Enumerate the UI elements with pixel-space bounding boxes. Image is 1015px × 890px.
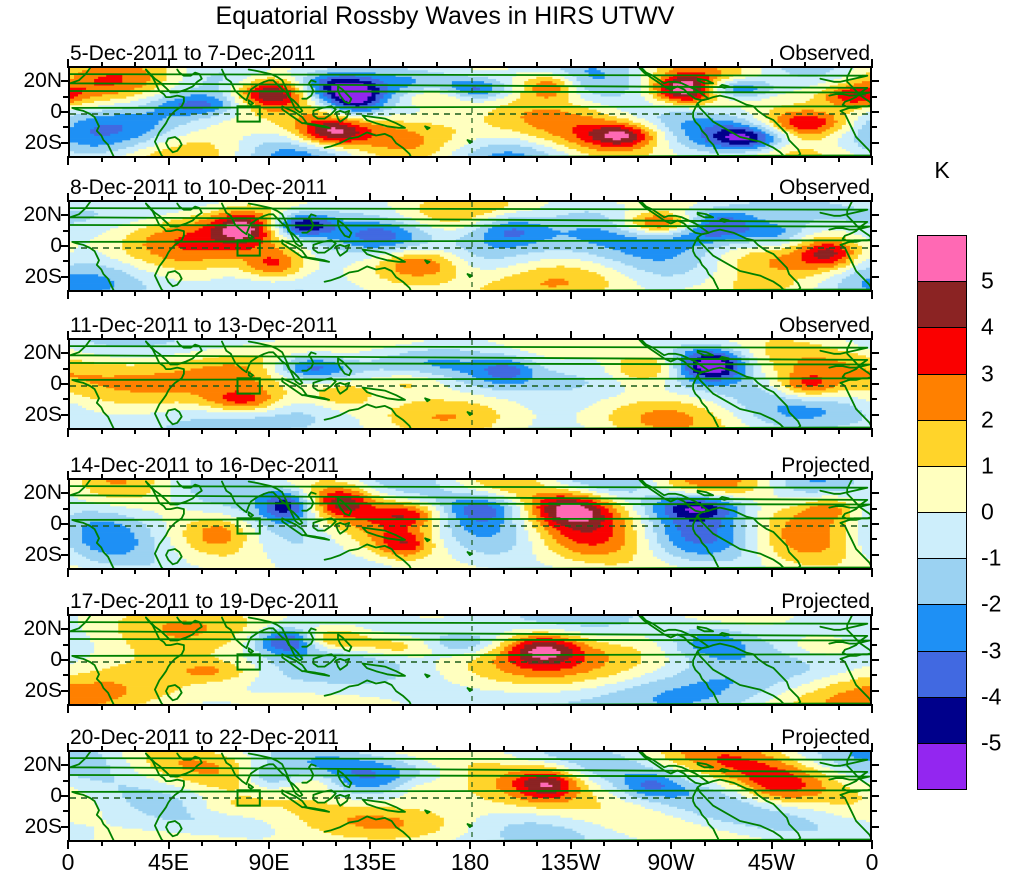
y-axis-tick [871, 383, 879, 385]
y-axis-tick [871, 554, 879, 556]
colorbar-tick-4: 4 [981, 314, 994, 341]
y-axis-tick [871, 795, 879, 797]
x-axis-minor-tick [838, 290, 840, 296]
x-axis-minor-tick [838, 840, 840, 846]
y-axis-label-20N: 20N [23, 617, 62, 641]
x-axis-tick [168, 428, 170, 437]
x-axis-minor-tick [804, 334, 806, 340]
x-axis-minor-tick [335, 474, 337, 480]
x-axis-tick [570, 568, 572, 577]
x-axis-minor-tick [101, 156, 103, 162]
x-axis-minor-tick [101, 196, 103, 202]
x-axis-minor-tick [101, 568, 103, 574]
x-axis-minor-tick [536, 840, 538, 846]
x-axis-minor-tick [704, 156, 706, 162]
x-axis-minor-tick [737, 840, 739, 846]
x-axis-minor-tick [302, 334, 304, 340]
y-axis-label-20S: 20S [25, 815, 62, 839]
x-axis-minor-tick [503, 474, 505, 480]
y-axis-minor-tick [871, 508, 877, 510]
x-axis-tick [771, 59, 773, 68]
x-axis-minor-tick [101, 290, 103, 296]
x-axis-minor-tick [637, 568, 639, 574]
x-axis-minor-tick [201, 568, 203, 574]
contour-fill [70, 340, 872, 430]
x-axis-tick [469, 607, 471, 616]
x-axis-tick [871, 607, 873, 616]
x-axis-tick [670, 840, 672, 849]
map-panel-5: 17-Dec-2011 to 19-Dec-2011Projected20N02… [68, 614, 872, 706]
colorbar-band-6 [917, 512, 967, 560]
x-axis-minor-tick [536, 196, 538, 202]
x-axis-minor-tick [536, 746, 538, 752]
colorbar-band-11 [917, 743, 967, 791]
x-axis-tick [168, 607, 170, 616]
x-axis-minor-tick [536, 704, 538, 710]
panel-plot-area [68, 614, 872, 706]
colorbar-tick--1: -1 [981, 545, 1001, 572]
y-axis-minor-tick [871, 230, 877, 232]
y-axis-tick [61, 659, 69, 661]
x-axis-label-180: 180 [451, 849, 489, 876]
y-axis-tick [61, 245, 69, 247]
x-axis-tick [871, 471, 873, 480]
panel-date-range: 8-Dec-2011 to 10-Dec-2011 [70, 177, 327, 199]
panel-plot-area [68, 338, 872, 430]
x-axis-minor-tick [737, 746, 739, 752]
x-axis-minor-tick [536, 474, 538, 480]
x-axis-minor-tick [436, 610, 438, 616]
x-axis-minor-tick [335, 428, 337, 434]
x-axis-tick [268, 568, 270, 577]
x-axis-tick [670, 156, 672, 165]
x-axis-minor-tick [201, 746, 203, 752]
x-axis-tick [369, 607, 371, 616]
y-axis-tick [61, 214, 69, 216]
x-axis-minor-tick [603, 746, 605, 752]
x-axis-tick [268, 331, 270, 340]
x-axis-minor-tick [838, 156, 840, 162]
y-axis-tick [61, 628, 69, 630]
x-axis-minor-tick [302, 156, 304, 162]
x-axis-minor-tick [201, 62, 203, 68]
y-axis-tick [871, 659, 879, 661]
x-axis-minor-tick [134, 290, 136, 296]
x-axis-tick [871, 743, 873, 752]
x-axis-minor-tick [235, 474, 237, 480]
contour-fill [70, 68, 872, 158]
y-axis-tick [871, 80, 879, 82]
x-axis-tick [670, 193, 672, 202]
x-axis-tick [469, 704, 471, 713]
x-axis-minor-tick [302, 746, 304, 752]
x-axis-minor-tick [838, 746, 840, 752]
x-axis-tick [469, 743, 471, 752]
colorbar-band-4 [917, 420, 967, 468]
x-axis-tick [871, 331, 873, 340]
x-axis-minor-tick [402, 156, 404, 162]
colorbar-tick-3: 3 [981, 360, 994, 387]
x-axis-minor-tick [134, 746, 136, 752]
x-axis-minor-tick [101, 610, 103, 616]
x-axis-tick [369, 471, 371, 480]
x-axis-minor-tick [436, 334, 438, 340]
x-axis-minor-tick [402, 610, 404, 616]
y-axis-label-20N: 20N [23, 341, 62, 365]
y-axis-tick [871, 628, 879, 630]
x-axis-minor-tick [737, 196, 739, 202]
panel-plot-area [68, 200, 872, 292]
panel-date-range: 5-Dec-2011 to 7-Dec-2011 [70, 43, 316, 65]
x-axis-minor-tick [335, 840, 337, 846]
x-axis-minor-tick [503, 196, 505, 202]
x-axis-minor-tick [838, 428, 840, 434]
x-axis-tick [771, 607, 773, 616]
x-axis-tick [168, 471, 170, 480]
x-axis-tick [871, 193, 873, 202]
x-axis-tick [369, 743, 371, 752]
x-axis-minor-tick [503, 610, 505, 616]
x-axis-minor-tick [536, 568, 538, 574]
y-axis-tick [871, 214, 879, 216]
x-axis-minor-tick [603, 334, 605, 340]
x-axis-minor-tick [335, 62, 337, 68]
x-axis-tick [268, 59, 270, 68]
map-panel-1: 5-Dec-2011 to 7-Dec-2011Observed20N020S [68, 66, 872, 158]
x-axis-minor-tick [804, 474, 806, 480]
x-axis-tick [670, 59, 672, 68]
y-axis-label-20S: 20S [25, 131, 62, 155]
x-axis-minor-tick [637, 196, 639, 202]
x-axis-tick [369, 840, 371, 849]
y-axis-tick [61, 352, 69, 354]
y-axis-label-20N: 20N [23, 753, 62, 777]
x-axis-tick [369, 290, 371, 299]
x-axis-tick [369, 156, 371, 165]
x-axis-tick [871, 156, 873, 165]
colorbar-band-5 [917, 466, 967, 514]
y-axis-label-20S: 20S [25, 543, 62, 567]
x-axis-tick [67, 331, 69, 340]
x-axis-tick [268, 743, 270, 752]
y-axis-tick [61, 523, 69, 525]
x-axis-minor-tick [838, 568, 840, 574]
x-axis-tick [168, 704, 170, 713]
x-axis-minor-tick [503, 62, 505, 68]
x-axis-minor-tick [436, 196, 438, 202]
x-axis-tick [771, 290, 773, 299]
y-axis-minor-tick [871, 368, 877, 370]
x-axis-tick [570, 607, 572, 616]
x-axis-tick [268, 428, 270, 437]
x-axis-minor-tick [637, 610, 639, 616]
y-axis-tick [61, 142, 69, 144]
x-axis-minor-tick [402, 746, 404, 752]
x-axis-minor-tick [603, 610, 605, 616]
x-axis-minor-tick [201, 840, 203, 846]
y-axis-tick [871, 111, 879, 113]
x-axis-minor-tick [101, 746, 103, 752]
x-axis-minor-tick [134, 474, 136, 480]
x-axis-minor-tick [704, 568, 706, 574]
x-axis-tick [67, 428, 69, 437]
x-axis-tick [67, 290, 69, 299]
x-axis-minor-tick [804, 156, 806, 162]
y-axis-tick [871, 142, 879, 144]
x-axis-minor-tick [704, 746, 706, 752]
panel-status-label: Projected [781, 727, 870, 749]
x-axis-tick [67, 193, 69, 202]
x-axis-minor-tick [436, 290, 438, 296]
x-axis-minor-tick [503, 156, 505, 162]
panel-plot-area [68, 750, 872, 842]
x-axis-tick [168, 193, 170, 202]
x-axis-minor-tick [737, 156, 739, 162]
x-axis-minor-tick [101, 704, 103, 710]
x-axis-minor-tick [503, 290, 505, 296]
x-axis-tick [871, 59, 873, 68]
figure-root: Equatorial Rossby Waves in HIRS UTWV 5-D… [0, 0, 1015, 890]
y-axis-label-20N: 20N [23, 481, 62, 505]
x-axis-label-90W: 90W [647, 849, 694, 876]
x-axis-minor-tick [201, 428, 203, 434]
x-axis-label-135W: 135W [540, 849, 600, 876]
x-axis-minor-tick [235, 62, 237, 68]
x-axis-minor-tick [838, 334, 840, 340]
x-axis-minor-tick [101, 334, 103, 340]
panel-plot-area [68, 478, 872, 570]
x-axis-minor-tick [637, 704, 639, 710]
contour-fill [70, 752, 872, 842]
map-panel-3: 11-Dec-2011 to 13-Dec-2011Observed20N020… [68, 338, 872, 430]
y-axis-label-20N: 20N [23, 203, 62, 227]
y-axis-tick [61, 492, 69, 494]
x-axis-minor-tick [235, 746, 237, 752]
x-axis-minor-tick [603, 840, 605, 846]
colorbar-tick--5: -5 [981, 729, 1001, 756]
colorbar-band-2 [917, 327, 967, 375]
y-axis-minor-tick [63, 810, 69, 812]
x-axis-minor-tick [737, 428, 739, 434]
x-axis-tick [469, 156, 471, 165]
x-axis-tick [369, 428, 371, 437]
y-axis-tick [871, 276, 879, 278]
x-axis-tick [469, 290, 471, 299]
x-axis-minor-tick [603, 568, 605, 574]
x-axis-minor-tick [804, 62, 806, 68]
x-axis-minor-tick [436, 156, 438, 162]
x-axis-tick [469, 840, 471, 849]
x-axis-label-0: 0 [62, 849, 75, 876]
x-axis-tick [67, 607, 69, 616]
x-axis-tick [369, 331, 371, 340]
x-axis-minor-tick [637, 746, 639, 752]
x-axis-minor-tick [838, 474, 840, 480]
y-axis-minor-tick [871, 126, 877, 128]
x-axis-tick [670, 428, 672, 437]
x-axis-tick [67, 704, 69, 713]
x-axis-minor-tick [603, 156, 605, 162]
x-axis-minor-tick [302, 196, 304, 202]
x-axis-minor-tick [335, 704, 337, 710]
y-axis-minor-tick [871, 644, 877, 646]
colorbar-tick--3: -3 [981, 637, 1001, 664]
x-axis-minor-tick [704, 610, 706, 616]
y-axis-minor-tick [63, 674, 69, 676]
x-axis-minor-tick [804, 428, 806, 434]
x-axis-minor-tick [134, 196, 136, 202]
contour-fill [70, 202, 872, 292]
y-axis-minor-tick [871, 538, 877, 540]
y-axis-minor-tick [63, 368, 69, 370]
x-axis-minor-tick [402, 568, 404, 574]
x-axis-tick [871, 704, 873, 713]
x-axis-minor-tick [335, 290, 337, 296]
x-axis-minor-tick [335, 568, 337, 574]
x-axis-minor-tick [235, 610, 237, 616]
x-axis-tick [469, 193, 471, 202]
map-panel-2: 8-Dec-2011 to 10-Dec-2011Observed20N020S [68, 200, 872, 292]
x-axis-minor-tick [302, 840, 304, 846]
x-axis-minor-tick [804, 196, 806, 202]
x-axis-minor-tick [335, 196, 337, 202]
x-axis-tick [670, 607, 672, 616]
y-axis-label-20N: 20N [23, 69, 62, 93]
colorbar-unit-label: K [934, 157, 949, 184]
panel-status-label: Projected [781, 591, 870, 613]
x-axis-minor-tick [804, 290, 806, 296]
x-axis-minor-tick [503, 704, 505, 710]
x-axis-minor-tick [804, 746, 806, 752]
y-axis-tick [61, 276, 69, 278]
x-axis-minor-tick [436, 746, 438, 752]
x-axis-tick [771, 704, 773, 713]
x-axis-minor-tick [436, 840, 438, 846]
x-axis-tick [369, 59, 371, 68]
x-axis-tick [369, 193, 371, 202]
x-axis-tick [268, 840, 270, 849]
x-axis-minor-tick [737, 334, 739, 340]
colorbar-band-3 [917, 374, 967, 422]
x-axis-minor-tick [335, 334, 337, 340]
x-axis-tick [67, 471, 69, 480]
x-axis-minor-tick [101, 428, 103, 434]
x-axis-minor-tick [838, 196, 840, 202]
x-axis-minor-tick [235, 196, 237, 202]
x-axis-minor-tick [134, 62, 136, 68]
x-axis-tick [570, 193, 572, 202]
figure-title: Equatorial Rossby Waves in HIRS UTWV [0, 2, 890, 31]
x-axis-minor-tick [235, 704, 237, 710]
y-axis-minor-tick [63, 398, 69, 400]
x-axis-minor-tick [302, 704, 304, 710]
x-axis-minor-tick [134, 704, 136, 710]
x-axis-minor-tick [737, 290, 739, 296]
colorbar-tick-5: 5 [981, 268, 994, 295]
x-axis-minor-tick [101, 840, 103, 846]
x-axis-minor-tick [436, 568, 438, 574]
x-axis-minor-tick [134, 568, 136, 574]
x-axis-tick [268, 156, 270, 165]
x-axis-minor-tick [134, 334, 136, 340]
x-axis-minor-tick [235, 156, 237, 162]
y-axis-minor-tick [871, 810, 877, 812]
x-axis-tick [771, 193, 773, 202]
x-axis-minor-tick [536, 610, 538, 616]
x-axis-tick [871, 428, 873, 437]
x-axis-tick [771, 331, 773, 340]
map-panel-4: 14-Dec-2011 to 16-Dec-2011Projected20N02… [68, 478, 872, 570]
x-axis-tick [168, 743, 170, 752]
x-axis-minor-tick [704, 196, 706, 202]
x-axis-minor-tick [235, 568, 237, 574]
y-axis-tick [871, 414, 879, 416]
x-axis-tick [268, 704, 270, 713]
x-axis-minor-tick [637, 840, 639, 846]
y-axis-minor-tick [871, 398, 877, 400]
x-axis-minor-tick [536, 62, 538, 68]
contour-fill [70, 616, 872, 706]
y-axis-tick [61, 764, 69, 766]
x-axis-minor-tick [637, 334, 639, 340]
colorbar-tick--2: -2 [981, 591, 1001, 618]
y-axis-minor-tick [63, 644, 69, 646]
x-axis-minor-tick [302, 290, 304, 296]
x-axis-label-90E: 90E [249, 849, 290, 876]
x-axis-label-135E: 135E [343, 849, 397, 876]
panel-plot-area [68, 66, 872, 158]
x-axis-tick [570, 743, 572, 752]
colorbar-band-0 [917, 235, 967, 283]
x-axis-minor-tick [737, 568, 739, 574]
x-axis-tick [67, 156, 69, 165]
x-axis-minor-tick [704, 474, 706, 480]
x-axis-minor-tick [637, 290, 639, 296]
x-axis-minor-tick [737, 62, 739, 68]
y-axis-tick [871, 826, 879, 828]
x-axis-minor-tick [436, 474, 438, 480]
x-axis-minor-tick [402, 840, 404, 846]
x-axis-tick [369, 704, 371, 713]
x-axis-tick [268, 290, 270, 299]
x-axis-tick [469, 428, 471, 437]
panel-date-range: 11-Dec-2011 to 13-Dec-2011 [70, 315, 337, 337]
x-axis-tick [670, 743, 672, 752]
x-axis-tick [67, 743, 69, 752]
x-axis-tick [168, 840, 170, 849]
x-axis-minor-tick [704, 428, 706, 434]
colorbar: K543210-1-2-3-4-5 [917, 235, 967, 789]
x-axis-minor-tick [603, 290, 605, 296]
colorbar-tick-1: 1 [981, 452, 994, 479]
x-axis-minor-tick [201, 610, 203, 616]
x-axis-minor-tick [201, 704, 203, 710]
y-axis-tick [871, 245, 879, 247]
x-axis-minor-tick [536, 156, 538, 162]
y-axis-tick [61, 414, 69, 416]
x-axis-minor-tick [134, 156, 136, 162]
colorbar-tick-0: 0 [981, 499, 994, 526]
x-axis-tick [268, 193, 270, 202]
x-axis-minor-tick [302, 610, 304, 616]
x-axis-minor-tick [737, 704, 739, 710]
x-axis-label-0: 0 [866, 849, 879, 876]
x-axis-minor-tick [436, 428, 438, 434]
y-axis-tick [871, 492, 879, 494]
x-axis-minor-tick [335, 746, 337, 752]
y-axis-tick [61, 111, 69, 113]
x-axis-minor-tick [302, 428, 304, 434]
